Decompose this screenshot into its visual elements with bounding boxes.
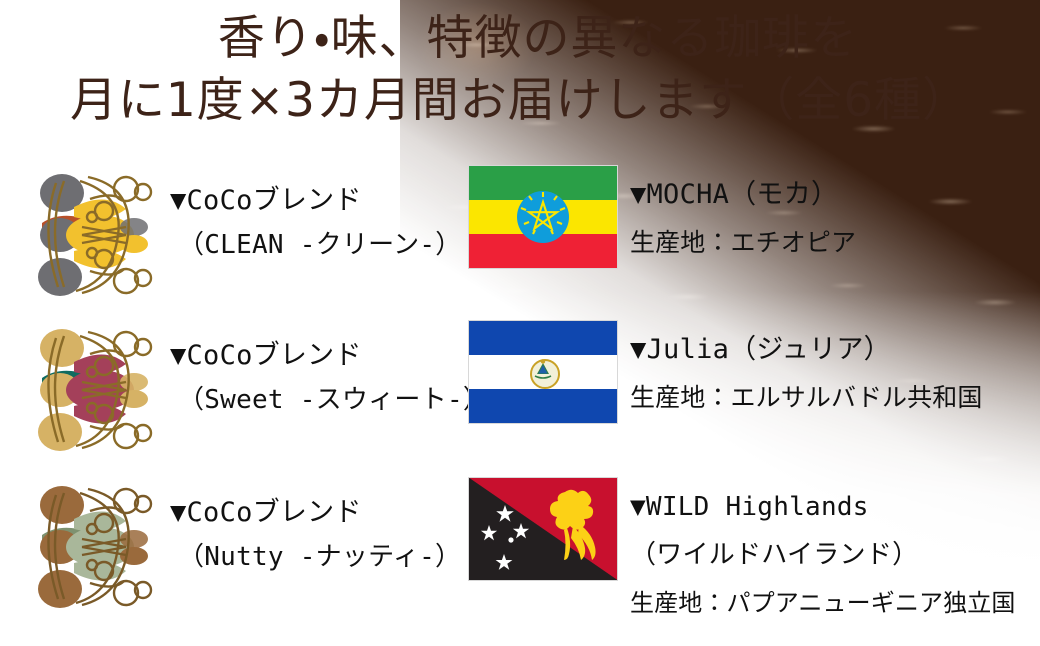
bird-of-paradise-icon (550, 490, 596, 560)
headline-line-2: 月に1度×3カ月間お届けします（全6種） (0, 70, 1040, 132)
blend-title: ▼CoCoブレンド (170, 179, 462, 223)
blend-subtitle: （Nutty -ナッティ-） (170, 535, 461, 579)
blend-subtitle: （Sweet -スウィート-） (170, 378, 489, 422)
origin-name: ▼WILD Highlands (630, 483, 1015, 531)
blend-column: ▼CoCoブレンド （CLEAN -クリーン-） (30, 165, 460, 646)
list-item: ▼CoCoブレンド （Sweet -スウィート-） (30, 320, 489, 470)
origin-name-kana: （ワイルドハイランド） (630, 531, 1015, 579)
blend-text: ▼CoCoブレンド （Nutty -ナッティ-） (170, 477, 461, 579)
blend-title: ▼CoCoブレンド (170, 334, 489, 378)
origin-text: ▼WILD Highlands （ワイルドハイランド） 生産地：パプアニューギニ… (630, 477, 1015, 627)
origin-text: ▼Julia（ジュリア） 生産地：エルサルバドル共和国 (630, 320, 983, 422)
origin-place: 生産地：エルサルバドル共和国 (630, 374, 983, 422)
blend-text: ▼CoCoブレンド （CLEAN -クリーン-） (170, 165, 462, 267)
coco-blend-clean-logo (30, 165, 160, 305)
el-salvador-flag (468, 320, 618, 424)
coco-blend-sweet-logo (30, 320, 160, 460)
coco-blend-nutty-logo (30, 477, 160, 617)
blend-subtitle: （CLEAN -クリーン-） (170, 223, 462, 267)
blend-text: ▼CoCoブレンド （Sweet -スウィート-） (170, 320, 489, 422)
product-grid: ▼CoCoブレンド （CLEAN -クリーン-） (0, 165, 1040, 646)
page-title: 香り・味、特徴の異なる珈琲を 月に1度×3カ月間お届けします（全6種） (0, 8, 1040, 132)
blend-title: ▼CoCoブレンド (170, 491, 461, 535)
southern-cross-stars (481, 505, 529, 570)
list-item: ▼CoCoブレンド （CLEAN -クリーン-） (30, 165, 462, 315)
ethiopia-flag (468, 165, 618, 269)
origin-column: ▼MOCHA（モカ） 生産地：エチオピア (468, 165, 1040, 646)
origin-place: 生産地：エチオピア (630, 219, 856, 267)
origin-text: ▼MOCHA（モカ） 生産地：エチオピア (630, 165, 856, 267)
headline-line-1: 香り・味、特徴の異なる珈琲を (0, 8, 1040, 70)
origin-name: ▼Julia（ジュリア） (630, 326, 983, 374)
origin-name: ▼MOCHA（モカ） (630, 171, 856, 219)
list-item: ▼WILD Highlands （ワイルドハイランド） 生産地：パプアニューギニ… (468, 477, 1015, 627)
list-item: ▼CoCoブレンド （Nutty -ナッティ-） (30, 477, 461, 627)
papua-new-guinea-flag (468, 477, 618, 581)
origin-place: 生産地：パプアニューギニア独立国 (630, 579, 1015, 627)
list-item: ▼Julia（ジュリア） 生産地：エルサルバドル共和国 (468, 320, 983, 470)
list-item: ▼MOCHA（モカ） 生産地：エチオピア (468, 165, 856, 315)
promo-banner: 香り・味、特徴の異なる珈琲を 月に1度×3カ月間お届けします（全6種） (0, 0, 1040, 646)
